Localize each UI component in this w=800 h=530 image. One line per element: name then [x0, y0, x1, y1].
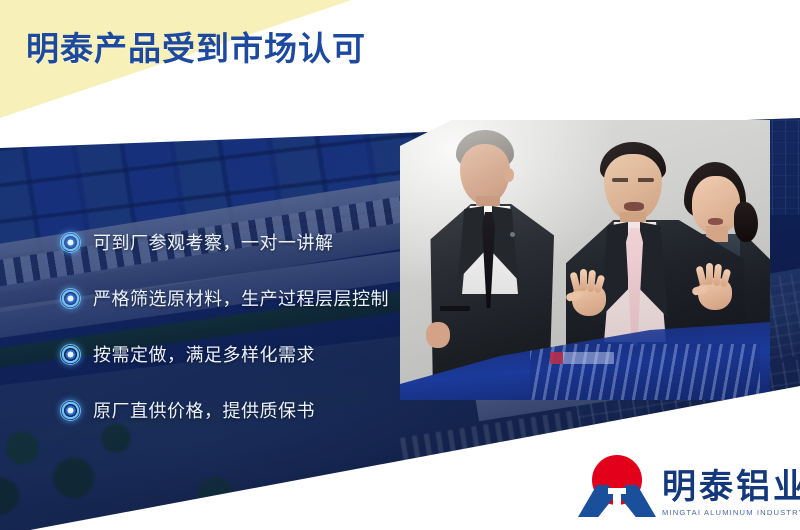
- list-item: 可到厂参观考察，一对一讲解: [60, 214, 400, 270]
- feature-text: 原厂直供价格，提供质保书: [93, 397, 315, 423]
- model-building-sign: [550, 352, 614, 364]
- target-circle-icon: [60, 288, 81, 309]
- logo-name-en: MINGTAI ALUMINUM INDUSTRY CO., LTD: [662, 508, 800, 517]
- target-circle-icon: [60, 344, 81, 365]
- page-title: 明泰产品受到市场认可: [26, 22, 366, 70]
- feature-list: 可到厂参观考察，一对一讲解 严格筛选原材料，生产过程层层控制 按需定做，满足多样…: [60, 214, 400, 438]
- feature-text: 严格筛选原材料，生产过程层层控制: [93, 285, 389, 311]
- white-t-mark: [613, 488, 621, 512]
- list-item: 严格筛选原材料，生产过程层层控制: [60, 270, 400, 326]
- hand-left: [568, 270, 610, 316]
- feature-text: 按需定做，满足多样化需求: [93, 341, 315, 367]
- list-item: 按需定做，满足多样化需求: [60, 326, 400, 382]
- logo-name-cn: 明泰铝业: [662, 470, 800, 506]
- promo-banner: 明泰产品受到市场认可 可到厂参观考察，一对一讲解 严格筛选原材料，生产过程层层控…: [0, 0, 800, 530]
- feature-text: 可到厂参观考察，一对一讲解: [93, 229, 334, 255]
- logo-wordmark: 明泰铝业 MINGTAI ALUMINUM INDUSTRY CO., LTD: [662, 470, 800, 517]
- target-circle-icon: [60, 232, 81, 253]
- hand-right: [694, 264, 736, 310]
- company-logo: 明泰铝业 MINGTAI ALUMINUM INDUSTRY CO., LTD: [578, 455, 800, 517]
- list-item: 原厂直供价格，提供质保书: [60, 382, 400, 438]
- mingtai-sun-mountain-logo-icon: [578, 455, 656, 517]
- business-people-photo: [400, 120, 770, 400]
- target-circle-icon: [60, 400, 81, 421]
